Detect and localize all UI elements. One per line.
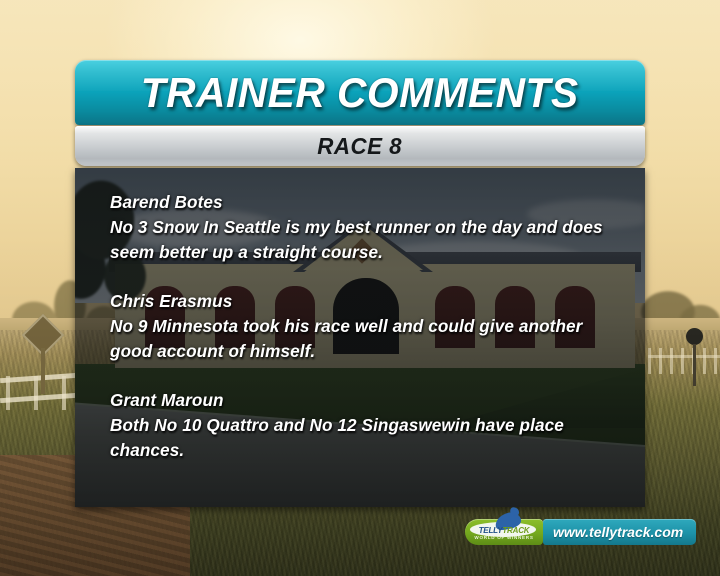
- trainer-name: Barend Botes: [110, 190, 617, 215]
- panel-subtitle-bar: RACE 8: [75, 126, 645, 166]
- trainer-name: Chris Erasmus: [110, 289, 617, 314]
- comment-entry: Chris Erasmus No 9 Minnesota took his ra…: [110, 289, 627, 364]
- logo-wordmark: TELLYTRACK: [479, 526, 530, 535]
- comment-entry: Barend Botes No 3 Snow In Seattle is my …: [110, 190, 627, 265]
- logo-tagline: WORLD OF WINNERS: [474, 535, 533, 541]
- trainer-comment-text: No 3 Snow In Seattle is my best runner o…: [110, 215, 605, 265]
- panel-title-bar: TRAINER COMMENTS: [75, 60, 645, 125]
- background-marker-post: [693, 344, 696, 386]
- comment-entry: Grant Maroun Both No 10 Quattro and No 1…: [110, 388, 627, 463]
- comments-list: Barend Botes No 3 Snow In Seattle is my …: [110, 190, 627, 463]
- background-far-fence: [648, 348, 720, 374]
- background-sign-post: [41, 348, 45, 394]
- website-url-text: www.tellytrack.com: [553, 524, 683, 540]
- trainer-comment-text: No 9 Minnesota took his race well and co…: [110, 314, 605, 364]
- tellytrack-logo: TELLYTRACK WORLD OF WINNERS: [465, 519, 543, 545]
- broadcast-graphic-screen: TRAINER COMMENTS RACE 8: [0, 0, 720, 576]
- race-number-label: RACE 8: [318, 133, 403, 160]
- page-title: TRAINER COMMENTS: [141, 69, 579, 117]
- website-url-badge: www.tellytrack.com: [543, 519, 696, 545]
- panel-body: Barend Botes No 3 Snow In Seattle is my …: [75, 168, 645, 507]
- background-round-marker-icon: [686, 328, 703, 345]
- trainer-comment-text: Both No 10 Quattro and No 12 Singaswewin…: [110, 413, 605, 463]
- logo-word-telly: TELLY: [479, 526, 503, 535]
- trainer-name: Grant Maroun: [110, 388, 617, 413]
- logo-word-track: TRACK: [502, 526, 529, 535]
- channel-branding-bar: TELLYTRACK WORLD OF WINNERS www.tellytra…: [465, 519, 696, 545]
- trainer-comments-panel: TRAINER COMMENTS RACE 8: [75, 60, 645, 507]
